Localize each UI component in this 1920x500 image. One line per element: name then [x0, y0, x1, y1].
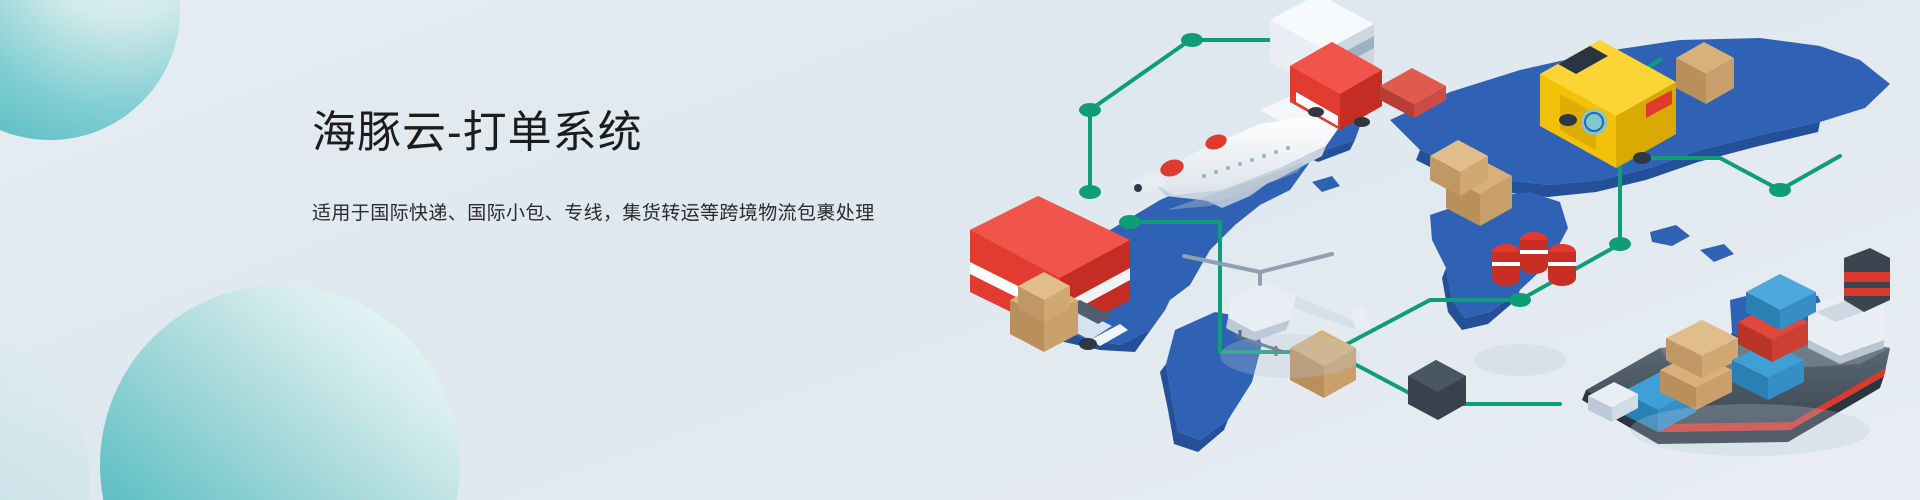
decorative-circle-top-left — [0, 0, 180, 140]
small-truck-icon — [1408, 360, 1466, 420]
decorative-circle-bottom-left-soft — [0, 330, 90, 500]
banner-copy: 海豚云-打单系统 适用于国际快递、国际小包、专线，集货转运等跨境物流包裹处理 — [312, 104, 932, 228]
global-logistics-illustration — [960, 0, 1920, 500]
banner-subtitle: 适用于国际快递、国际小包、专线，集货转运等跨境物流包裹处理 — [312, 200, 932, 228]
banner-title: 海豚云-打单系统 — [312, 104, 932, 162]
decorative-circle-bottom-left — [100, 285, 460, 500]
hero-banner: 海豚云-打单系统 适用于国际快递、国际小包、专线，集货转运等跨境物流包裹处理 — [0, 0, 1920, 500]
